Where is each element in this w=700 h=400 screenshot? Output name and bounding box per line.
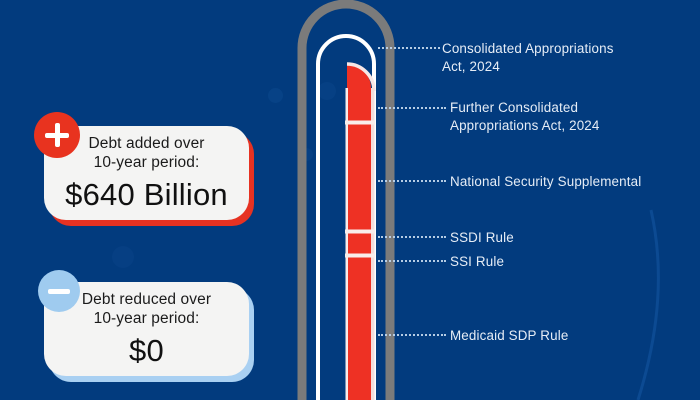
thermo-label-national-security-supplemental: National Security Supplemental [450,173,641,191]
mercury-left-edge [346,88,349,400]
infographic-canvas: Consolidated Appropriations Act, 2024 Fu… [0,0,700,400]
debt-added-value: $640 Billion [65,177,228,213]
plus-icon-bar-v [55,123,60,147]
debt-reduced-line1: Debt reduced over [82,290,211,309]
leader-line-2 [378,107,446,109]
leader-line-4 [378,236,446,238]
segment-divider-3 [345,254,375,258]
leader-line-5 [378,260,446,262]
segment-divider-1 [345,121,375,125]
leader-line-6 [378,334,446,336]
minus-icon-bar [48,289,70,294]
minus-icon [38,270,80,312]
thermo-label-ssdi-rule: SSDI Rule [450,229,514,247]
leader-line-3 [378,180,446,182]
thermo-label-consolidated-appropriations: Consolidated Appropriations Act, 2024 [442,40,614,75]
mercury-right-edge [371,88,375,400]
decor-curve-right [638,210,658,400]
debt-reduced-value: $0 [129,333,164,369]
plus-icon [34,112,80,158]
thermo-label-ssi-rule: SSI Rule [450,253,504,271]
segment-divider-2 [345,230,375,234]
thermo-label-medicaid-sdp-rule: Medicaid SDP Rule [450,327,568,345]
debt-added-line1: Debt added over [88,134,204,153]
debt-added-line2: 10-year period: [94,153,200,172]
debt-reduced-line2: 10-year period: [94,309,200,328]
leader-line-1 [378,47,440,49]
thermo-label-further-consolidated: Further Consolidated Appropriations Act,… [450,99,600,134]
